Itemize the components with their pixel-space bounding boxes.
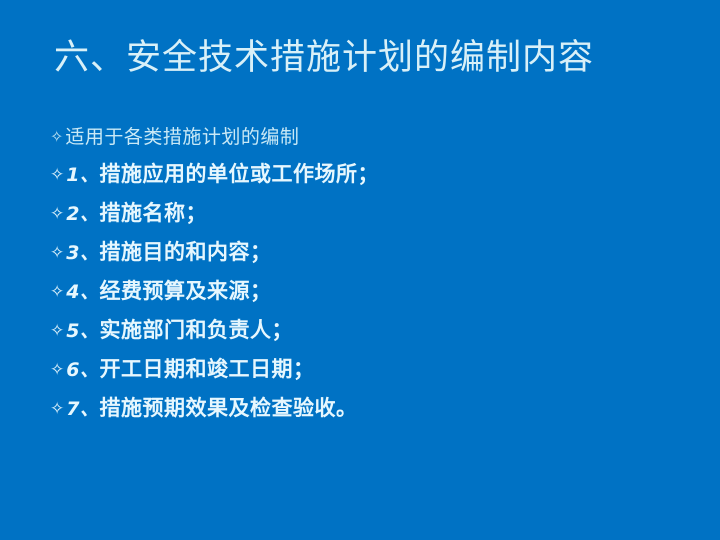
diamond-star-bullet-icon: ✧ (50, 323, 64, 340)
bullet-line-item-3: ✧ 3、 措施目的和内容； (50, 233, 690, 272)
diamond-star-bullet-icon: ✧ (50, 167, 64, 184)
bullet-line-item-1: ✧ 1、 措施应用的单位或工作场所； (50, 155, 690, 194)
bullet-item-number: 6、 (66, 351, 99, 390)
bullet-item-number: 4、 (66, 273, 99, 312)
diamond-star-bullet-icon: ✧ (50, 129, 63, 145)
diamond-star-bullet-icon: ✧ (50, 206, 64, 223)
bullet-item-label: 实施部门和负责人； (99, 311, 293, 350)
diamond-star-bullet-icon: ✧ (50, 401, 64, 418)
bullet-item-label: 措施目的和内容； (99, 233, 271, 272)
bullet-item-label: 措施名称； (99, 194, 207, 233)
bullet-line-intro: ✧ 适用于各类措施计划的编制 (50, 122, 690, 152)
bullet-item-number: 5、 (66, 312, 99, 351)
bullet-intro-label: 适用于各类措施计划的编制 (65, 122, 299, 152)
bullet-item-number: 7、 (66, 390, 99, 429)
diamond-star-bullet-icon: ✧ (50, 284, 64, 301)
bullet-item-number: 3、 (66, 234, 99, 273)
slide-body-list: ✧ 适用于各类措施计划的编制 ✧ 1、 措施应用的单位或工作场所； ✧ 2、 措… (50, 122, 690, 428)
bullet-line-item-7: ✧ 7、 措施预期效果及检查验收。 (50, 389, 690, 428)
bullet-item-number: 1、 (66, 156, 99, 195)
bullet-line-item-6: ✧ 6、 开工日期和竣工日期； (50, 350, 690, 389)
bullet-item-label: 措施预期效果及检查验收。 (99, 389, 357, 428)
presentation-slide: 六、安全技术措施计划的编制内容 ✧ 适用于各类措施计划的编制 ✧ 1、 措施应用… (0, 0, 720, 540)
bullet-line-item-2: ✧ 2、 措施名称； (50, 194, 690, 233)
bullet-item-label: 开工日期和竣工日期； (99, 350, 314, 389)
diamond-star-bullet-icon: ✧ (50, 362, 64, 379)
slide-title: 六、安全技术措施计划的编制内容 (54, 27, 674, 89)
bullet-line-item-4: ✧ 4、 经费预算及来源； (50, 272, 690, 311)
bullet-line-item-5: ✧ 5、 实施部门和负责人； (50, 311, 690, 350)
bullet-item-label: 措施应用的单位或工作场所； (99, 155, 379, 194)
diamond-star-bullet-icon: ✧ (50, 245, 64, 262)
bullet-item-number: 2、 (66, 195, 99, 234)
bullet-item-label: 经费预算及来源； (99, 272, 271, 311)
